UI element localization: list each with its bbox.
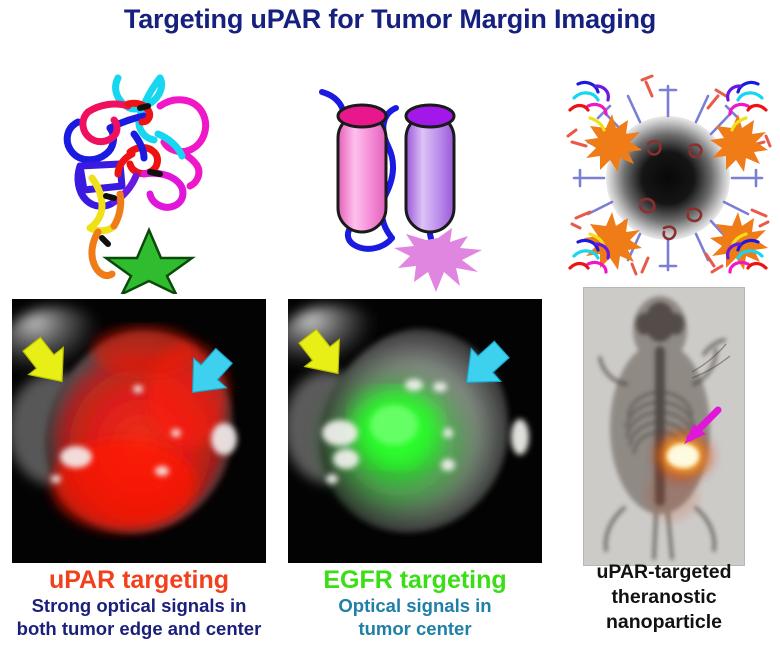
page-title: Targeting uPAR for Tumor Margin Imaging — [0, 4, 780, 35]
caption-egfr-line1: Optical signals in — [282, 594, 548, 617]
magenta-starburst-icon — [394, 228, 482, 292]
egfr-helix-illustration — [296, 78, 496, 296]
upar-ribbon-svg — [48, 62, 258, 294]
green-star-icon — [106, 230, 192, 294]
ribbon-black-3 — [106, 196, 114, 198]
ribbon-magenta-3 — [144, 173, 183, 207]
theranostic-nanoparticle-illustration — [556, 62, 780, 288]
nanoparticle-svg — [556, 62, 780, 288]
mouse-xray-image — [584, 288, 744, 565]
caption-mouse-line3: nanoparticle — [560, 610, 768, 635]
ribbon-yellow-2 — [90, 226, 114, 231]
caption-upar-line1: Strong optical signals in — [4, 594, 274, 617]
caption-upar-heading: uPAR targeting — [4, 566, 274, 594]
mouse-xray-panel — [583, 287, 745, 566]
caption-mouse-line2: theranostic — [560, 585, 768, 610]
upar-protein-illustration — [48, 62, 258, 294]
ribbon-black-1 — [140, 106, 148, 108]
caption-egfr: EGFR targeting Optical signals in tumor … — [282, 566, 548, 640]
caption-egfr-heading: EGFR targeting — [282, 566, 548, 594]
caption-mouse: uPAR-targeted theranostic nanoparticle — [560, 560, 768, 635]
ribbon-black-2 — [150, 172, 160, 174]
caption-egfr-line2: tumor center — [282, 617, 548, 640]
caption-upar: uPAR targeting Strong optical signals in… — [4, 566, 274, 640]
egfr-fluorescence-panel — [288, 299, 542, 563]
ribbon-black-4 — [102, 238, 108, 244]
upar-fluorescence-image — [12, 299, 266, 563]
helix-left-cylinder — [338, 105, 386, 232]
egfr-fluorescence-image — [288, 299, 542, 563]
ribbon-pink-1 — [88, 104, 128, 112]
upar-fluorescence-panel — [12, 299, 266, 563]
egfr-helix-svg — [296, 78, 496, 296]
ribbon-cyan-3 — [158, 134, 182, 156]
caption-mouse-line1: uPAR-targeted — [560, 560, 768, 585]
helix-right-cylinder — [406, 105, 454, 232]
caption-upar-line2: both tumor edge and center — [4, 617, 274, 640]
